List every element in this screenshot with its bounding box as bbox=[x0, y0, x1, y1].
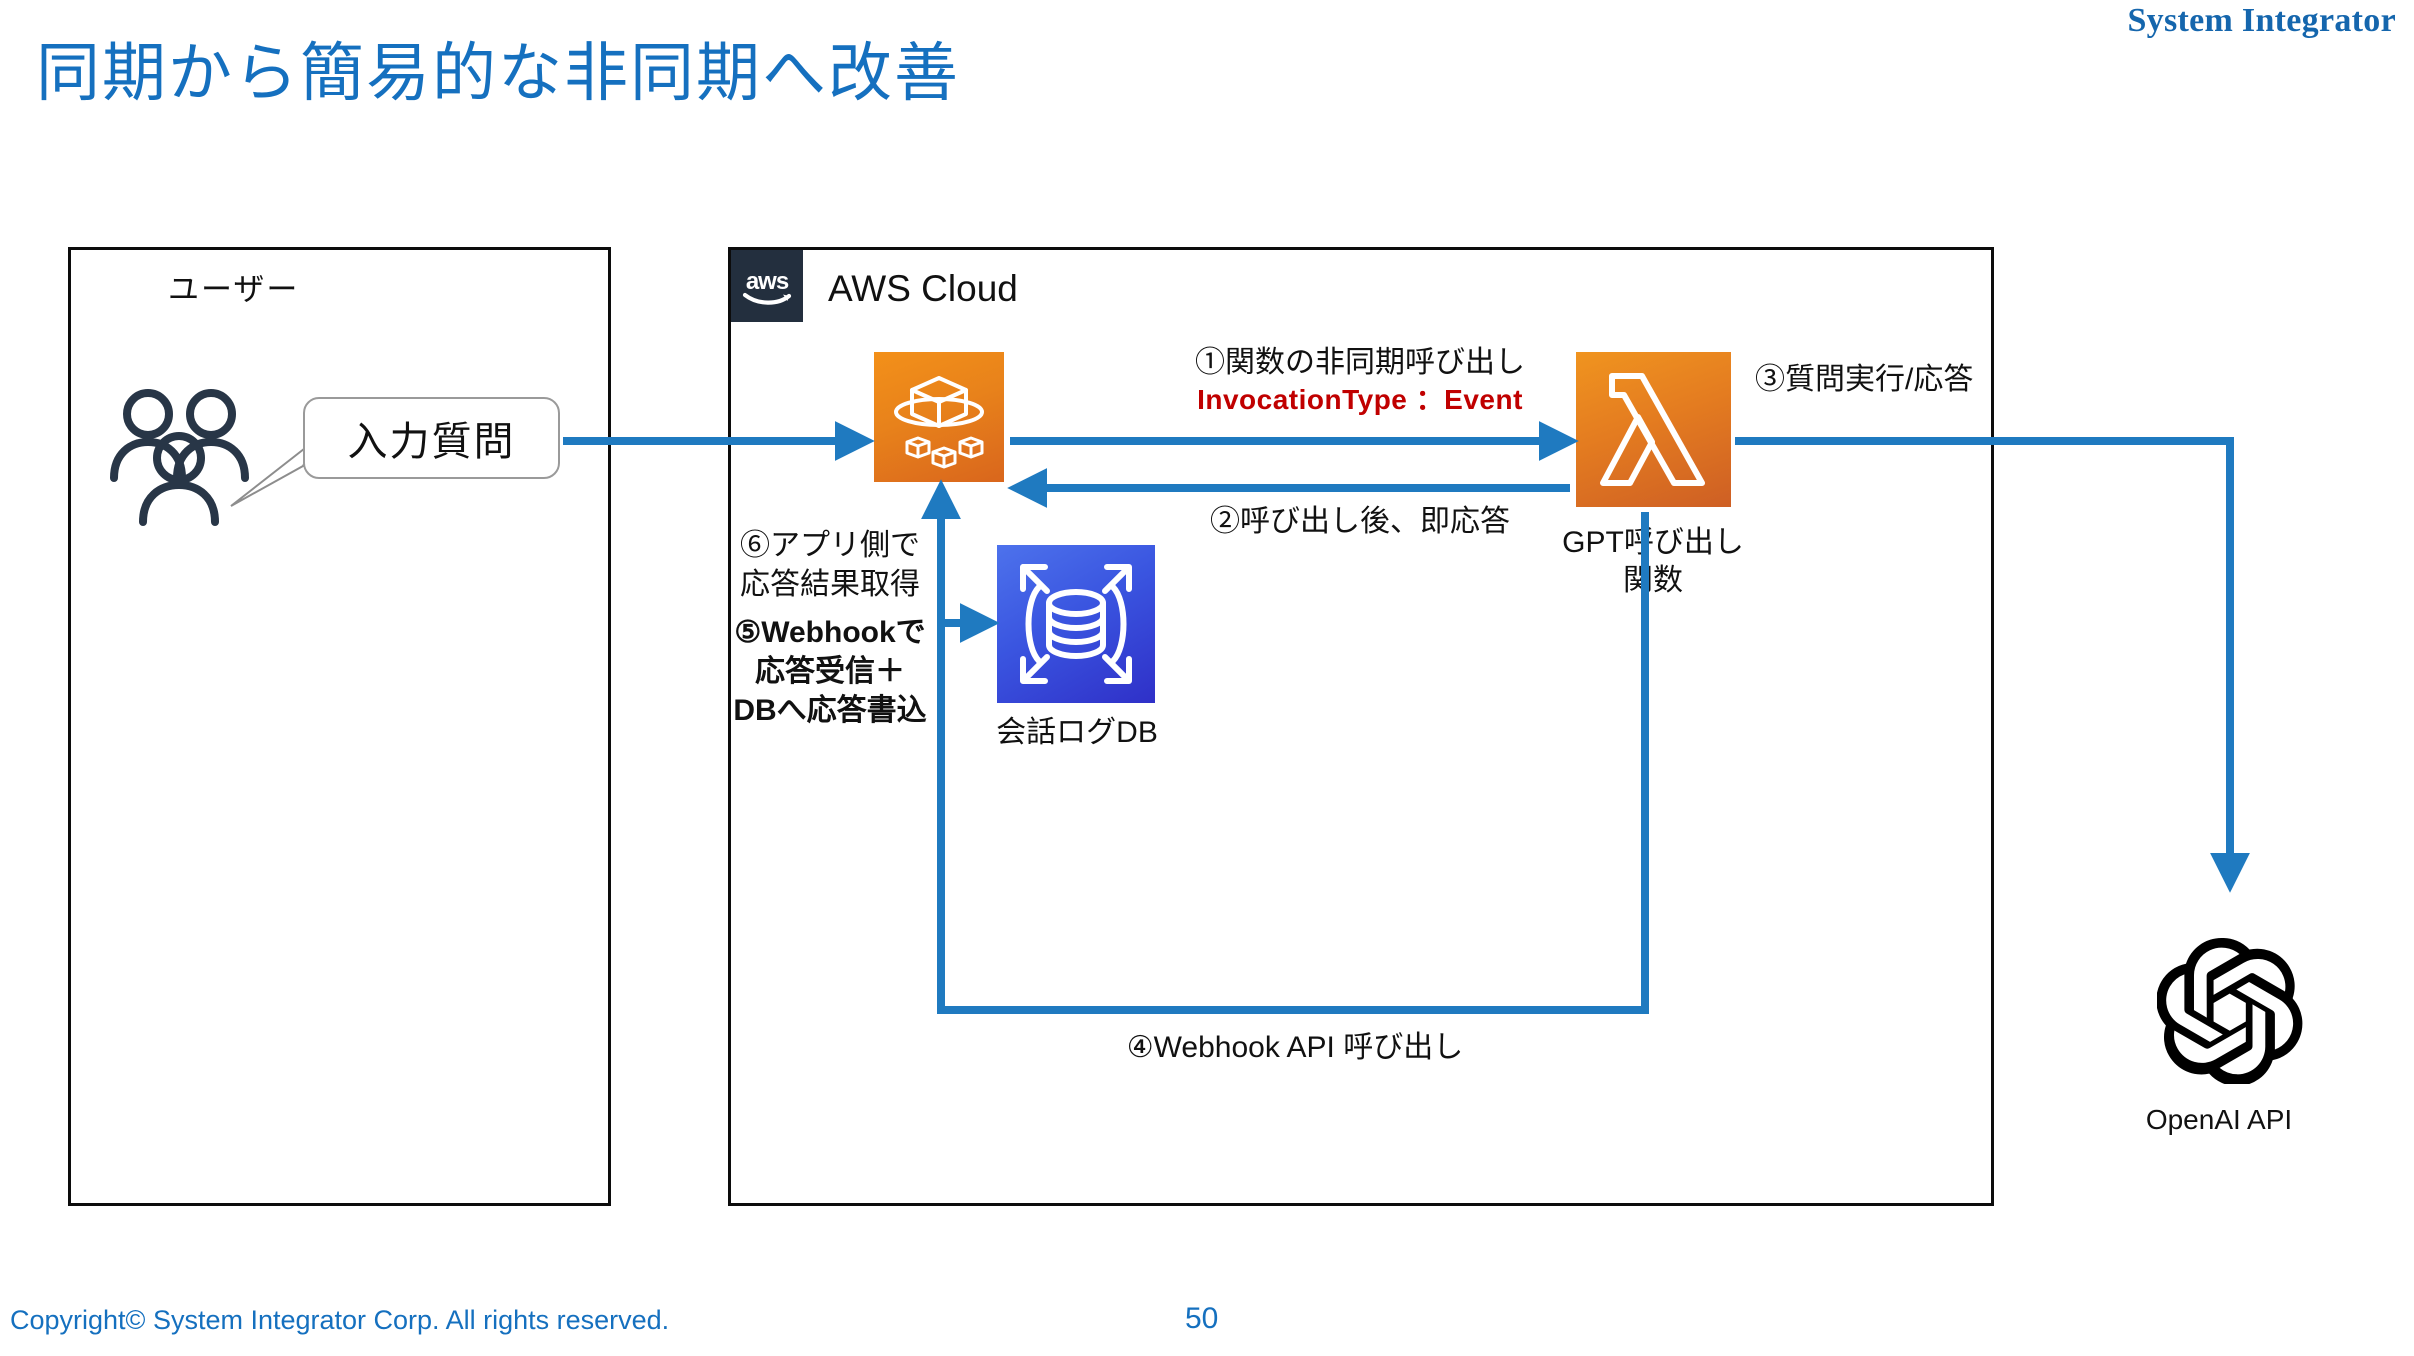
flow-label-step2: ②呼び出し後、即応答 bbox=[1100, 502, 1620, 541]
svg-text:aws: aws bbox=[746, 268, 789, 295]
user-input-text: 入力質問 bbox=[348, 409, 516, 467]
aws-cloud-label: AWS Cloud bbox=[828, 268, 1018, 310]
flow-label-step5: ⑤Webhookで 応答受信＋ DBへ応答書込 bbox=[710, 613, 950, 730]
user-input-speech-bubble: 入力質問 bbox=[303, 397, 560, 479]
openai-logo-icon bbox=[2157, 938, 2303, 1084]
company-brand-logo: System Integrator bbox=[2127, 2, 2396, 40]
user-area-label: ユーザー bbox=[168, 264, 299, 309]
flow-label-step3: ③質問実行/応答 bbox=[1755, 360, 2075, 399]
flow-label-step6: ⑥アプリ側で 応答結果取得 bbox=[720, 526, 940, 604]
aws-dynamodb-icon[interactable] bbox=[997, 545, 1155, 703]
flow-label-step1-emphasis: InvocationType ：Event bbox=[1100, 382, 1620, 418]
slide-canvas: System Integrator 同期から簡易的な非同期へ改善 aws AWS… bbox=[0, 0, 2414, 1356]
database-caption: 会話ログDB bbox=[940, 714, 1214, 752]
aws-elastic-beanstalk-icon[interactable] bbox=[874, 352, 1004, 482]
footer-copyright: Copyright© System Integrator Corp. All r… bbox=[10, 1305, 669, 1336]
openai-caption: OpenAI API bbox=[2084, 1102, 2354, 1138]
footer-page-number: 50 bbox=[1185, 1302, 1218, 1336]
flow-label-step1: ①関数の非同期呼び出し bbox=[1100, 343, 1620, 382]
page-title: 同期から簡易的な非同期へ改善 bbox=[36, 22, 960, 114]
users-group-icon bbox=[108, 386, 258, 526]
aws-logo-icon: aws bbox=[731, 250, 803, 322]
flow-label-step4: ④Webhook API 呼び出し bbox=[1030, 1028, 1560, 1067]
